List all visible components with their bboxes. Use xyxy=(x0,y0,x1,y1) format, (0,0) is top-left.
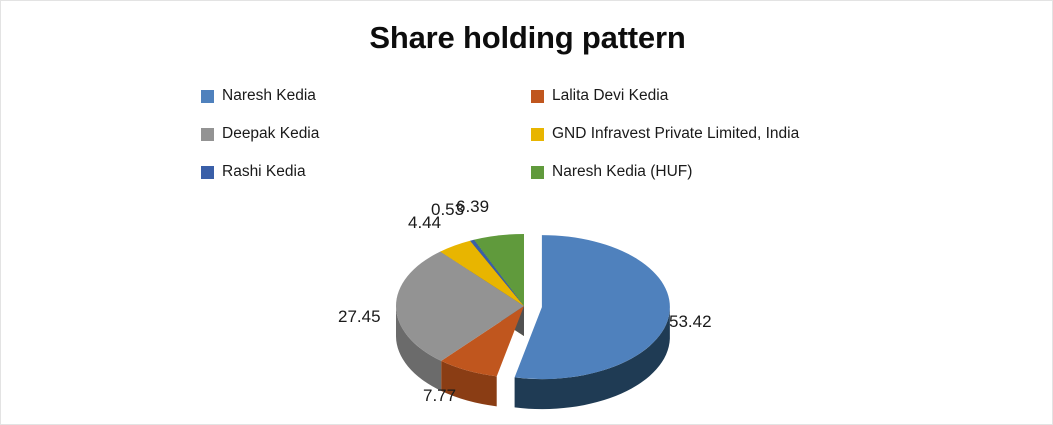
legend-swatch-icon xyxy=(201,90,214,103)
pie-data-label: 6.39 xyxy=(456,197,489,217)
pie-chart-plot-area: 53.427.7727.454.440.536.39 xyxy=(1,186,1053,425)
pie-data-label: 27.45 xyxy=(338,307,381,327)
legend-swatch-icon xyxy=(531,128,544,141)
legend-item-label: Naresh Kedia xyxy=(222,87,316,105)
legend-item-label: Naresh Kedia (HUF) xyxy=(552,163,692,181)
chart-container: Share holding pattern Naresh Kedia Lalit… xyxy=(0,0,1053,425)
legend-item-deepak-kedia[interactable]: Deepak Kedia xyxy=(201,123,531,145)
legend-item-naresh-kedia[interactable]: Naresh Kedia xyxy=(201,85,531,107)
legend-item-label: GND Infravest Private Limited, India xyxy=(552,125,799,143)
chart-legend: Naresh Kedia Lalita Devi Kedia Deepak Ke… xyxy=(201,85,901,199)
chart-title: Share holding pattern xyxy=(1,20,1053,56)
pie-data-label: 7.77 xyxy=(423,386,456,406)
legend-item-label: Rashi Kedia xyxy=(222,163,306,181)
legend-item-label: Lalita Devi Kedia xyxy=(552,87,668,105)
legend-item-lalita-devi-kedia[interactable]: Lalita Devi Kedia xyxy=(531,85,901,107)
legend-swatch-icon xyxy=(201,166,214,179)
legend-swatch-icon xyxy=(531,166,544,179)
legend-item-gnd-infravest[interactable]: GND Infravest Private Limited, India xyxy=(531,123,901,145)
legend-swatch-icon xyxy=(531,90,544,103)
legend-swatch-icon xyxy=(201,128,214,141)
pie-chart-svg[interactable] xyxy=(1,186,1053,425)
legend-item-rashi-kedia[interactable]: Rashi Kedia xyxy=(201,161,531,183)
legend-item-label: Deepak Kedia xyxy=(222,125,319,143)
legend-item-naresh-kedia-huf[interactable]: Naresh Kedia (HUF) xyxy=(531,161,901,183)
pie-data-label: 53.42 xyxy=(669,312,712,332)
